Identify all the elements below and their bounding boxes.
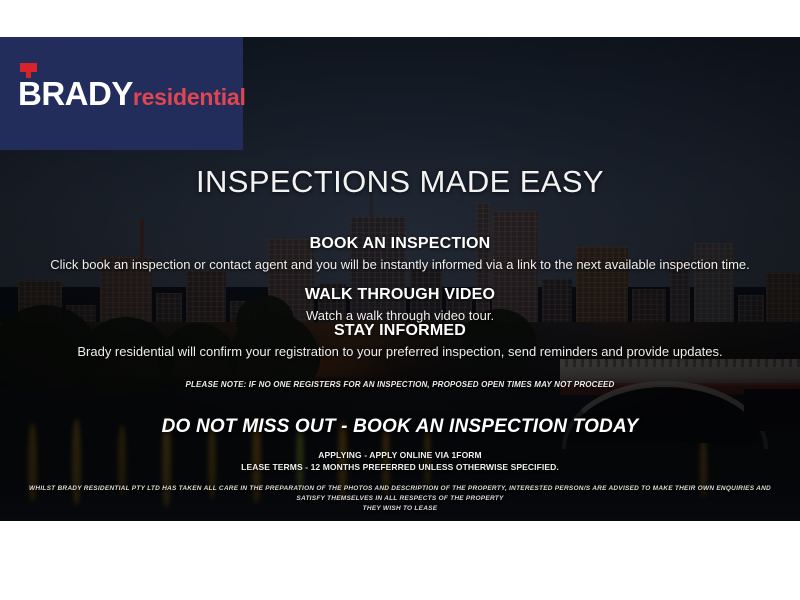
logo-text: BRADYresidential: [18, 75, 246, 112]
page-canvas: BRADYresidential INSPECTIONS MADE EASY B…: [0, 0, 800, 600]
logo-flag-icon: [20, 63, 37, 72]
brady-residential-logo[interactable]: BRADYresidential: [0, 37, 243, 150]
section-title: STAY INFORMED: [0, 322, 800, 340]
lease-terms-line: LEASE TERMS - 12 MONTHS PREFERRED UNLESS…: [0, 461, 800, 473]
disclaimer-line-2: THEY WISH TO LEASE: [20, 504, 780, 514]
section-stay-informed: STAY INFORMED Brady residential will con…: [0, 322, 800, 360]
disclaimer-line-1: WHILST BRADY RESIDENTIAL PTY LTD HAS TAK…: [20, 484, 780, 504]
logo-suffix-text: residential: [133, 84, 246, 110]
terms-block: APPLYING - APPLY ONLINE VIA 1FORM LEASE …: [0, 449, 800, 474]
section-book-an-inspection: BOOK AN INSPECTION Click book an inspect…: [0, 235, 800, 273]
section-title: WALK THROUGH VIDEO: [0, 286, 800, 304]
legal-disclaimer: WHILST BRADY RESIDENTIAL PTY LTD HAS TAK…: [20, 484, 780, 514]
section-body: Brady residential will confirm your regi…: [0, 343, 800, 360]
inspection-banner-image: BRADYresidential INSPECTIONS MADE EASY B…: [0, 37, 800, 521]
call-to-action-text: DO NOT MISS OUT - BOOK AN INSPECTION TOD…: [0, 416, 800, 438]
applying-line: APPLYING - APPLY ONLINE VIA 1FORM: [0, 449, 800, 461]
logo-brand-text: BRADY: [18, 75, 133, 112]
section-body: Click book an inspection or contact agen…: [0, 256, 800, 273]
please-note-text: PLEASE NOTE: IF NO ONE REGISTERS FOR AN …: [0, 380, 800, 389]
logo-wrap: BRADYresidential: [18, 77, 246, 110]
section-title: BOOK AN INSPECTION: [0, 235, 800, 253]
section-walk-through-video: WALK THROUGH VIDEO Watch a walk through …: [0, 286, 800, 324]
banner-headline: INSPECTIONS MADE EASY: [0, 164, 800, 200]
